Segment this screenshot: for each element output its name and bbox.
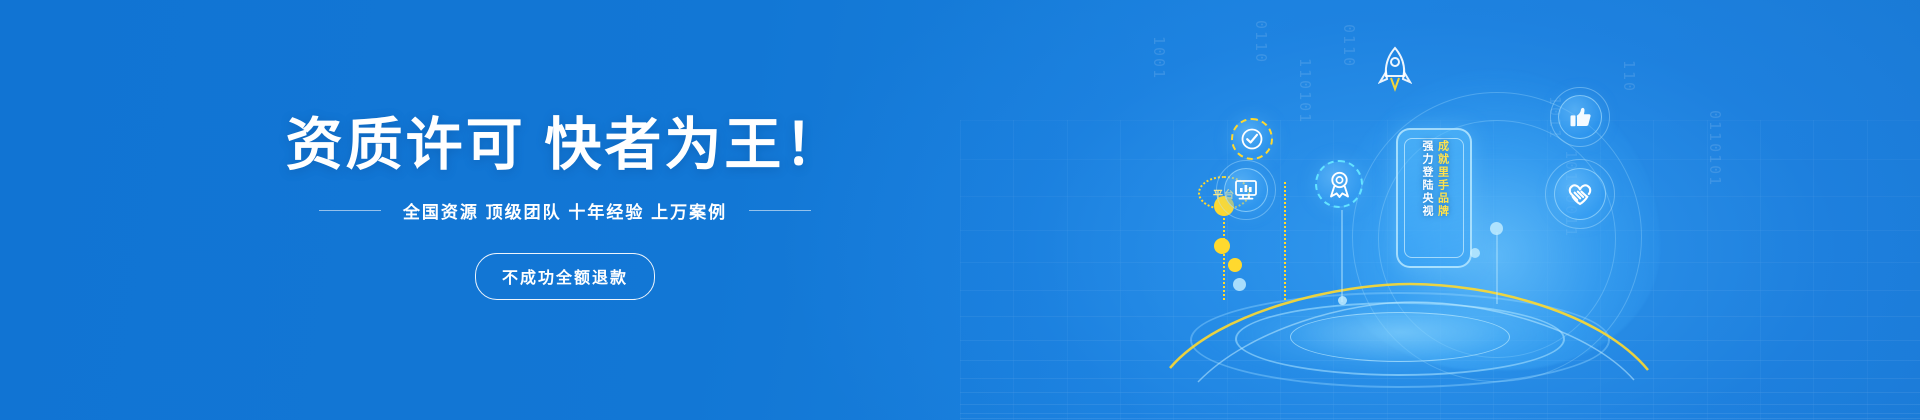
binary-digits-decoration: 0110101 bbox=[1706, 110, 1724, 187]
tablet-line-white: 强力登陆央视 bbox=[1420, 140, 1432, 218]
divider-dash-right bbox=[749, 210, 811, 211]
rocket-icon bbox=[1378, 46, 1412, 92]
stem-node-dot bbox=[1338, 296, 1347, 305]
award-medal-icon[interactable] bbox=[1315, 160, 1363, 208]
binary-digits-decoration: 110 bbox=[1620, 60, 1638, 93]
stem-node-dot bbox=[1233, 278, 1246, 291]
grid-line-vertical bbox=[1760, 120, 1761, 420]
icon-halo-decoration bbox=[1216, 160, 1276, 220]
stem-node-dot bbox=[1470, 248, 1480, 258]
binary-digits-decoration: 0110 bbox=[1252, 20, 1270, 64]
icon-halo-decoration bbox=[1545, 159, 1615, 229]
binary-digits-decoration: 1001 bbox=[1150, 36, 1168, 80]
refund-guarantee-button[interactable]: 不成功全额退款 bbox=[475, 253, 655, 300]
grid-line-vertical bbox=[1867, 120, 1868, 420]
tablet-vertical-copy: 成就里手品牌 强力登陆央视 bbox=[1398, 140, 1470, 258]
orbit-arcs-decoration bbox=[1160, 250, 1660, 400]
stem-node-dot bbox=[1490, 222, 1503, 235]
banner-copy-block: 资质许可 快者为王！ 全国资源 顶级团队 十年经验 上万案例 不成功全额退款 bbox=[0, 0, 1130, 420]
connector-stem bbox=[1341, 210, 1343, 302]
tablet-line-gold: 成就里手品牌 bbox=[1436, 140, 1448, 218]
icon-halo-decoration bbox=[1550, 87, 1610, 147]
promo-banner: 1001 0110 110101 0110 1011 10100011 110 … bbox=[0, 0, 1920, 420]
subtitle-row: 全国资源 顶级团队 十年经验 上万案例 bbox=[319, 198, 811, 223]
binary-digits-decoration: 110101 bbox=[1296, 58, 1314, 124]
stem-node-dot bbox=[1214, 238, 1230, 254]
connector-stem bbox=[1284, 182, 1286, 300]
connector-stem bbox=[1496, 232, 1498, 304]
stem-node-dot bbox=[1228, 258, 1242, 272]
grid-line-vertical bbox=[1813, 120, 1814, 420]
connector-stem bbox=[1223, 210, 1225, 300]
check-circle-icon[interactable] bbox=[1231, 118, 1273, 160]
banner-subtitle: 全国资源 顶级团队 十年经验 上万案例 bbox=[403, 198, 727, 223]
binary-digits-decoration: 0110 bbox=[1340, 24, 1358, 68]
page-title: 资质许可 快者为王！ bbox=[286, 114, 845, 177]
divider-dash-left bbox=[319, 210, 381, 211]
